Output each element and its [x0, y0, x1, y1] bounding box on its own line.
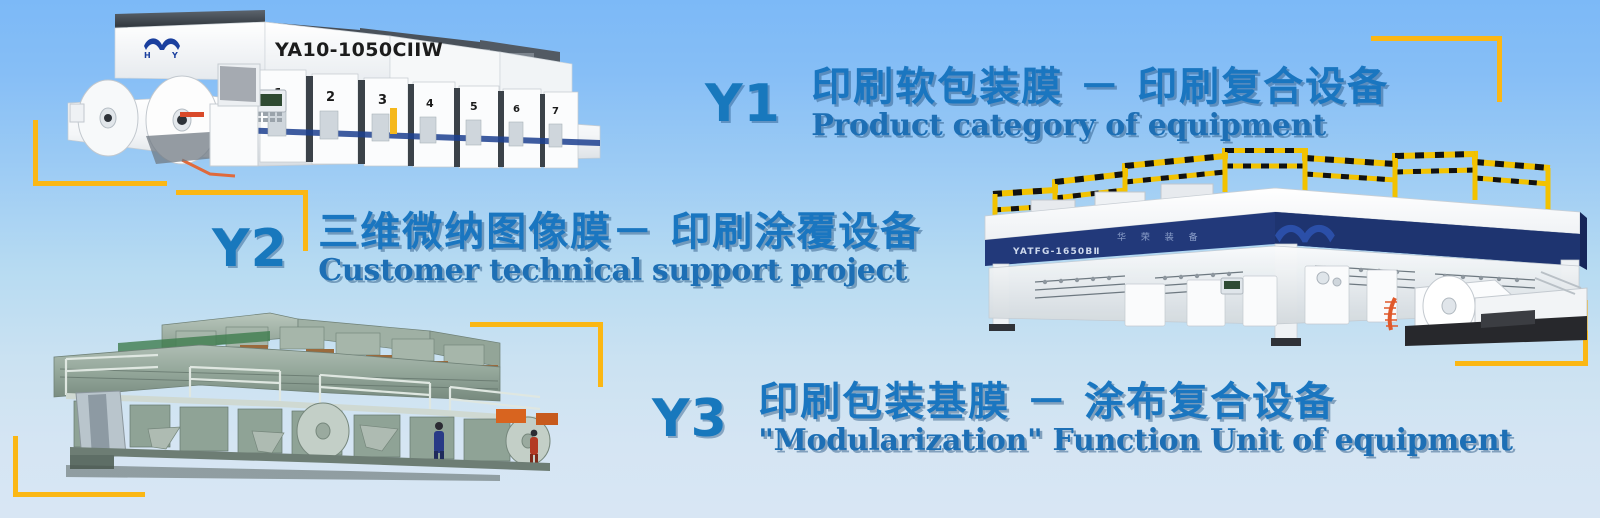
bracket-horizontal-rule [1371, 36, 1502, 41]
svg-text:4: 4 [426, 97, 434, 110]
entry-y3-titles: 印刷包装基膜 － 涂布复合设备 "Modularization" Functio… [758, 381, 1512, 457]
entry-y3-cn-title: 印刷包装基膜 － 涂布复合设备 [758, 381, 1512, 423]
bracket-top-right [1371, 36, 1507, 107]
svg-text:3: 3 [378, 93, 387, 108]
entry-y3-en-title: "Modularization" Function Unit of equipm… [758, 425, 1512, 457]
entry-y1-cn-title: 印刷软包装膜 － 印刷复合设备 [811, 66, 1389, 108]
machine-image-base-film-coating-line [30, 305, 575, 485]
bracket-vertical-rule [33, 120, 38, 186]
promotional-banner: H Y YA10-1050CIIW [0, 0, 1600, 518]
entry-y1: Y1 印刷软包装膜 － 印刷复合设备 Product category of e… [705, 66, 1389, 142]
entry-y2-en-title: Customer technical support project [318, 255, 922, 287]
bracket-vertical-rule [13, 436, 18, 497]
svg-text:2: 2 [326, 90, 335, 105]
svg-text:华 荣 装 备: 华 荣 装 备 [1117, 231, 1204, 243]
entry-y1-en-title: Product category of equipment [811, 110, 1389, 142]
entry-y2-cn-title: 三维微纳图像膜－ 印刷涂覆设备 [318, 211, 922, 253]
entry-y3: Y3 印刷包装基膜 － 涂布复合设备 "Modularization" Func… [652, 381, 1513, 457]
bracket-horizontal-rule [1455, 361, 1588, 366]
svg-text:7: 7 [552, 106, 559, 117]
svg-text:H: H [144, 51, 151, 60]
bracket-horizontal-rule [13, 492, 145, 497]
svg-text:YATFG-1650BⅡ: YATFG-1650BⅡ [1012, 247, 1101, 257]
bracket-vertical-rule [598, 322, 603, 387]
machine-image-coating-laminating-machine: 华 荣 装 备 YATFG-1650BⅡ [975, 148, 1590, 348]
svg-text:5: 5 [470, 100, 478, 113]
svg-text:6: 6 [513, 104, 520, 115]
svg-text:YA10-1050CIIW: YA10-1050CIIW [274, 39, 443, 61]
bracket-vertical-rule [1497, 36, 1502, 102]
entry-y1-code: Y1 [705, 74, 781, 134]
entry-y2-code: Y2 [212, 219, 288, 279]
svg-text:Y: Y [171, 51, 178, 60]
entry-y2-titles: 三维微纳图像膜－ 印刷涂覆设备 Customer technical suppo… [318, 211, 922, 287]
entry-y3-code: Y3 [652, 389, 728, 449]
entry-y1-titles: 印刷软包装膜 － 印刷复合设备 Product category of equi… [811, 66, 1389, 142]
machine-image-rotogravure-printing-press: H Y YA10-1050CIIW [60, 8, 605, 183]
entry-y2: Y2 三维微纳图像膜－ 印刷涂覆设备 Customer technical su… [212, 211, 922, 287]
bracket-horizontal-rule [176, 190, 308, 195]
